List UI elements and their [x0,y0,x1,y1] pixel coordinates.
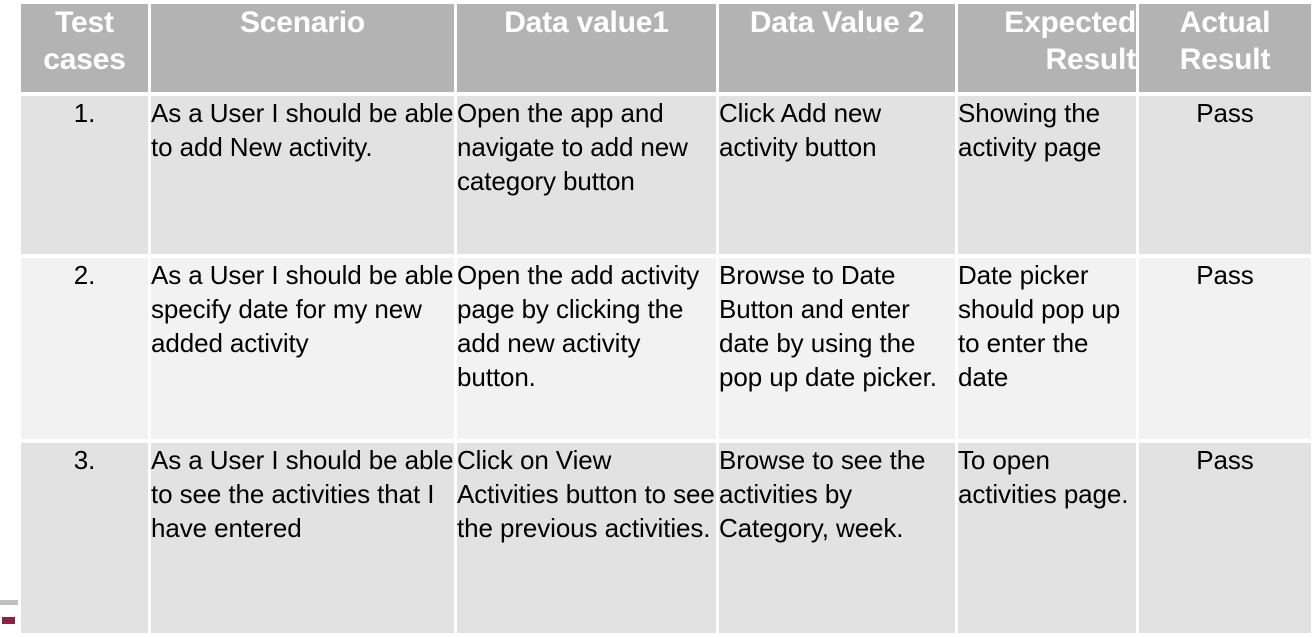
cell-data-value-2: Browse to see the activities by Category… [719,443,955,633]
cell-test-case-number: 1. [21,96,148,254]
table-row: 1. As a User I should be able to add New… [21,96,1311,254]
cell-expected-result: To open activities page. [958,443,1136,633]
cell-actual-result: Pass [1139,443,1311,633]
table-row: 3. As a User I should be able to see the… [21,443,1311,633]
cell-scenario: As a User I should be able specify date … [151,258,454,439]
column-header-expected-result: Expected Result [958,4,1136,92]
cell-test-case-number: 2. [21,258,148,439]
cell-data-value-1: Open the add activity page by clicking t… [457,258,716,439]
column-header-data-value-2: Data Value 2 [719,4,955,92]
cell-data-value-2: Browse to Date Button and enter date by … [719,258,955,439]
table-row: 2. As a User I should be able specify da… [21,258,1311,439]
column-header-scenario: Scenario [151,4,454,92]
page-edge-maroon-mark [2,617,15,624]
cell-actual-result: Pass [1139,258,1311,439]
table-header: Test cases Scenario Data value1 Data Val… [21,4,1311,92]
cell-data-value-2: Click Add new activity button [719,96,955,254]
cell-test-case-number: 3. [21,443,148,633]
column-header-data-value-1: Data value1 [457,4,716,92]
test-case-table: Test cases Scenario Data value1 Data Val… [18,0,1312,637]
page-edge-gray-bar [0,600,18,605]
table-header-row: Test cases Scenario Data value1 Data Val… [21,4,1311,92]
cell-data-value-1: Open the app and navigate to add new cat… [457,96,716,254]
cell-data-value-1: Click on View Activities button to see t… [457,443,716,633]
column-header-test-cases: Test cases [21,4,148,92]
table-body: 1. As a User I should be able to add New… [21,96,1311,633]
column-header-actual-result: Actual Result [1139,4,1311,92]
cell-expected-result: Date picker should pop up to enter the d… [958,258,1136,439]
cell-scenario: As a User I should be able to see the ac… [151,443,454,633]
cell-expected-result: Showing the activity page [958,96,1136,254]
cell-scenario: As a User I should be able to add New ac… [151,96,454,254]
cell-actual-result: Pass [1139,96,1311,254]
